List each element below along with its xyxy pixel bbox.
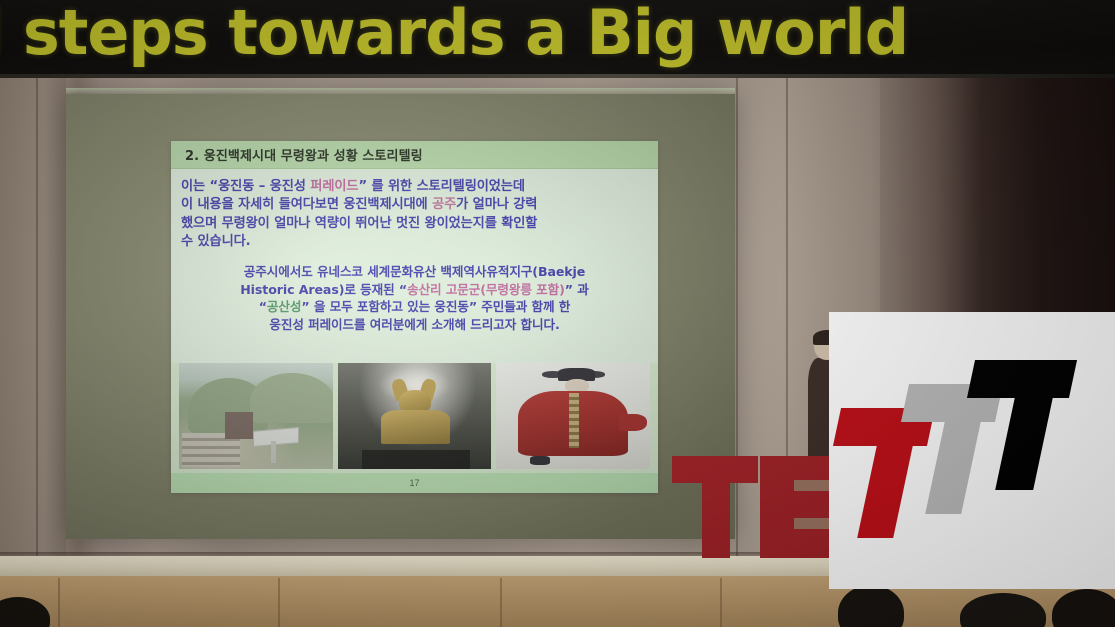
ttt-logo-mark xyxy=(829,312,1115,589)
presentation-slide: 2. 웅진백제시대 무령왕과 성황 스토리텔링 이는 “웅진동 – 웅진성 퍼레… xyxy=(171,141,658,493)
slide-footer: 17 xyxy=(171,473,658,493)
p1-line3: 했으며 무령왕이 얼마나 역량이 뛰어난 멋진 왕이었는지를 확인할 xyxy=(181,216,537,231)
ted-letter-t xyxy=(672,456,758,556)
ted-letter-e xyxy=(760,456,832,558)
projection-screen: 2. 웅진백제시대 무령왕과 성황 스토리텔링 이는 “웅진동 – 웅진성 퍼레… xyxy=(66,94,735,539)
audience-head xyxy=(0,597,50,627)
slide-number: 17 xyxy=(409,478,419,488)
stage-scene: 2. 웅진백제시대 무령왕과 성황 스토리텔링 이는 “웅진동 – 웅진성 퍼레… xyxy=(0,0,1115,627)
slide-body: 이는 “웅진동 – 웅진성 퍼레이드” 를 위한 스토리텔링이었는데 이 내용을… xyxy=(171,169,658,363)
tomb-site-photo xyxy=(179,363,333,469)
banner-underline xyxy=(0,74,1115,78)
slide-paragraph-2: 공주시에서도 유네스코 세계문화유산 백제역사유적지구(Baekje Histo… xyxy=(181,263,648,334)
king-portrait-photo xyxy=(496,363,650,469)
slide-title-band: 2. 웅진백제시대 무령왕과 성황 스토리텔링 xyxy=(171,141,658,169)
p2-line2-a: Historic Areas)로 등재된 “ xyxy=(240,282,407,297)
audience-head xyxy=(1052,589,1115,627)
slide-title: 2. 웅진백제시대 무령왕과 성황 스토리텔링 xyxy=(185,145,423,164)
p1-line1-highlight: 퍼레이드 xyxy=(310,179,358,194)
audience-head xyxy=(960,593,1046,627)
banner-text: l steps towards a Big world xyxy=(0,0,908,69)
p1-line2-b: 가 얼마나 강력 xyxy=(456,197,537,212)
wall-panel xyxy=(0,78,66,573)
p2-line4: 웅진성 퍼레이드를 여러분에게 소개해 드리고자 합니다. xyxy=(269,317,559,332)
p1-line4: 수 있습니다. xyxy=(181,234,251,249)
p2-line3-highlight: 공산성 xyxy=(267,299,301,314)
p2-line2-highlight: 송산리 고문군(무령왕릉 포함) xyxy=(407,282,565,297)
p1-line2-highlight: 공주 xyxy=(432,197,456,212)
p2-line1: 공주시에서도 유네스코 세계문화유산 백제역사유적지구(Baekje xyxy=(244,264,585,279)
p2-line3-a: “ xyxy=(259,299,267,314)
p1-line1-a: 이는 “웅진동 – 웅진성 xyxy=(181,179,310,194)
p2-line3-b: ” 을 모두 포함하고 있는 웅진동” 주민들과 함께 한 xyxy=(301,299,570,314)
p1-line2-a: 이 내용을 자세히 들여다보면 웅진백제시대에 xyxy=(181,197,432,212)
ttt-logo-overlay xyxy=(829,312,1115,589)
p2-line2-b: ” 과 xyxy=(565,282,589,297)
wall-seam xyxy=(36,78,38,573)
slide-paragraph-1: 이는 “웅진동 – 웅진성 퍼레이드” 를 위한 스토리텔링이었는데 이 내용을… xyxy=(181,178,648,252)
audience-head xyxy=(838,585,904,627)
slide-photo-row xyxy=(171,363,658,473)
overhead-banner: l steps towards a Big world xyxy=(0,0,1115,78)
golden-statue-photo xyxy=(338,363,492,469)
p1-line1-b: ” 를 위한 스토리텔링이었는데 xyxy=(358,179,524,194)
